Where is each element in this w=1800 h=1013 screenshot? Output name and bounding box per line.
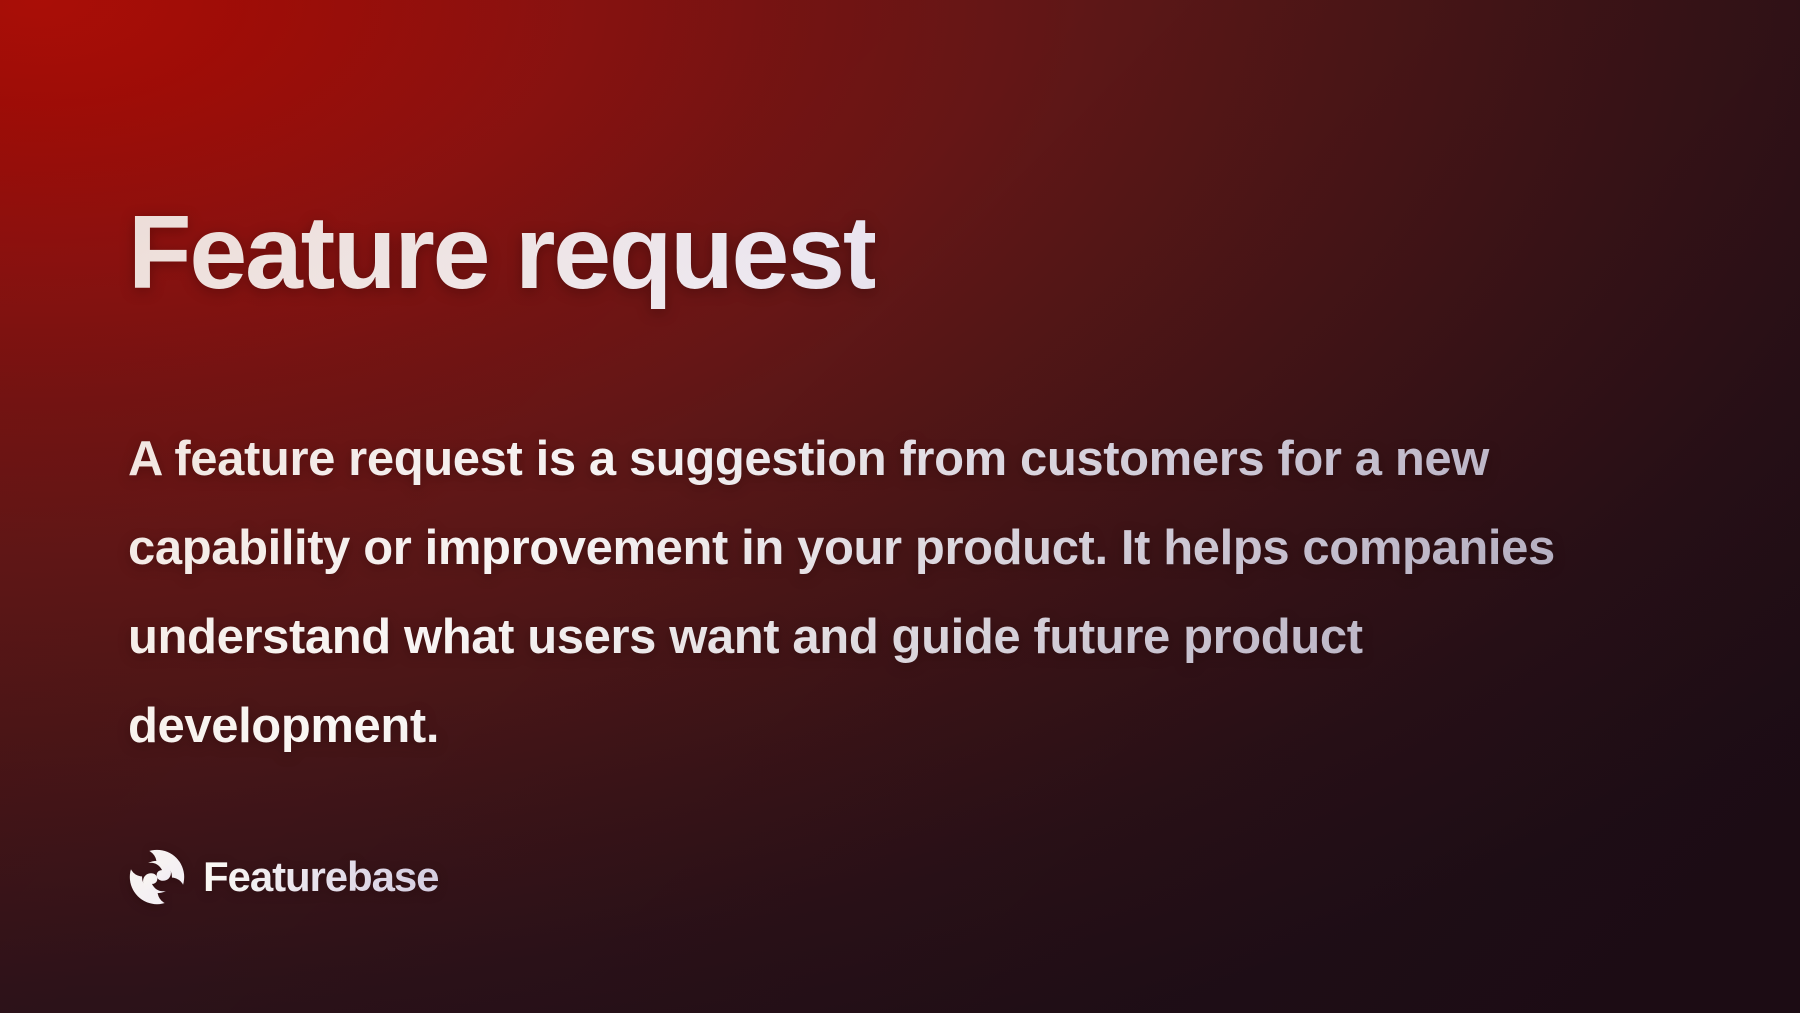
featurebase-pinwheel-icon	[128, 848, 186, 906]
brand-lockup: Featurebase	[128, 848, 438, 906]
brand-name: Featurebase	[203, 856, 438, 898]
page-title: Feature request	[128, 197, 875, 309]
feature-request-card: Feature request A feature request is a s…	[0, 0, 1800, 1013]
description-text: A feature request is a suggestion from c…	[128, 415, 1648, 771]
card-content: Feature request A feature request is a s…	[128, 0, 1688, 1013]
